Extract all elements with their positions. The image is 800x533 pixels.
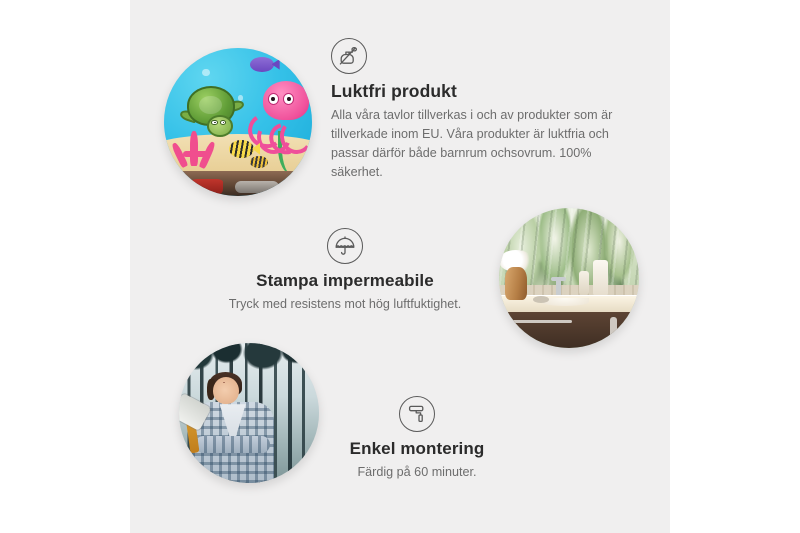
face [213,377,239,405]
bathroom-bottle [593,260,608,296]
feature-block-odorless: Luktfri produkt Alla våra tavlor tillver… [331,38,631,183]
crossed-arms [195,436,270,453]
feature-description: Färdig på 60 minuter. [312,463,522,482]
octopus [247,81,309,149]
turtle-eye [220,120,226,125]
feature-title: Luktfri produkt [331,81,631,102]
octopus-eye [283,93,294,105]
turtle-eye [211,120,217,125]
bubble-icon [202,69,209,76]
fish-purple [250,57,274,72]
feature-image-underwater [164,48,312,196]
turtle-head [207,115,233,136]
fish-small [250,156,268,168]
feature-title: Enkel montering [312,439,522,459]
feature-block-easy-install: Enkel montering Färdig på 60 minuter. [312,396,522,483]
sea-turtle [185,86,250,139]
octopus-eye [268,93,279,105]
feature-description: Tryck med resistens mot hög luftfuktighe… [210,295,480,314]
umbrella-icon [327,228,363,264]
bathroom-vanity-cabinet [499,312,639,348]
bathroom-faucet [556,277,560,297]
flower-vase [505,267,527,301]
feature-description: Alla våra tavlor tillverkas i och av pro… [331,106,631,183]
sea-floor-strip [164,171,312,196]
octopus-head [263,81,309,120]
feature-image-bathroom [499,208,639,348]
feature-block-waterproof: Stampa impermeabile Tryck med resistens … [210,228,480,315]
no-fragrance-spray-bottle-icon [331,38,367,74]
smile [223,381,226,383]
product-features-panel: Luktfri produkt Alla våra tavlor tillver… [0,0,800,533]
feature-title: Stampa impermeabile [210,271,480,291]
fish-yellow [229,140,254,158]
bathroom-bottle [579,271,589,295]
feature-image-painter [179,343,319,483]
woman-painter [190,377,277,483]
paint-roller-icon [399,396,435,432]
